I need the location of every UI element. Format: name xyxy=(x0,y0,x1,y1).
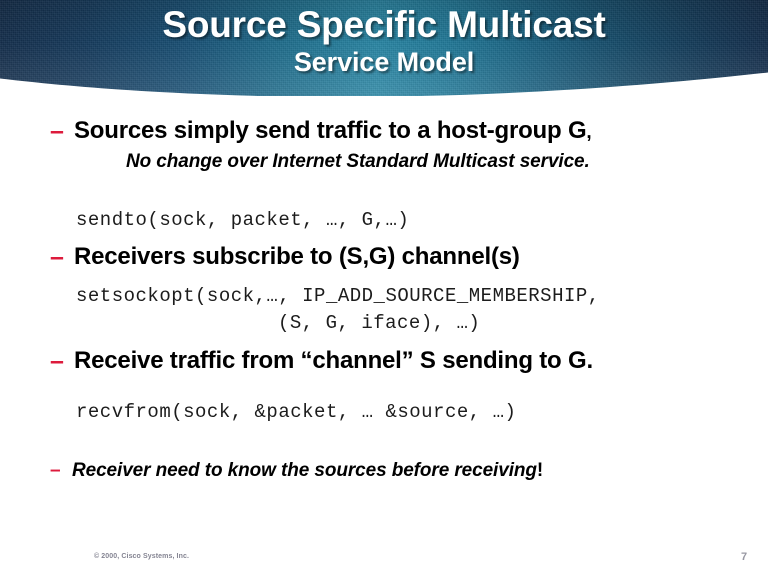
bullet-main-text: Receiver need to know the sources before… xyxy=(72,460,537,481)
bullet-item-receiver-need-to-know: – Receiver need to know the sources befo… xyxy=(50,459,543,483)
bullet-tail-text: , xyxy=(586,122,591,143)
bullet-subline-no-change: No change over Internet Standard Multica… xyxy=(126,150,590,173)
slide-canvas: Source Specific Multicast Service Model … xyxy=(0,0,768,576)
bullet-tail-text: ! xyxy=(537,460,543,481)
code-line-setsockopt-args: (S, G, iface), …) xyxy=(278,311,480,335)
bullet-label: Receivers subscribe to (S,G) channel(s) xyxy=(74,243,520,271)
footer-copyright: © 2000, Cisco Systems, Inc. xyxy=(94,552,189,562)
bullet-label: Sources simply send traffic to a host-gr… xyxy=(74,117,592,147)
code-line-setsockopt: setsockopt(sock,…, IP_ADD_SOURCE_MEMBERS… xyxy=(76,284,600,308)
code-line-recvfrom: recvfrom(sock, &packet, … &source, …) xyxy=(76,400,516,424)
slide-body: – Sources simply send traffic to a host-… xyxy=(0,104,768,524)
bullet-label: Receive traffic from “channel” S sending… xyxy=(74,347,593,375)
bullet-dash-icon: – xyxy=(50,243,74,271)
bullet-dash-icon: – xyxy=(50,347,74,375)
footer-page-number: 7 xyxy=(734,550,754,564)
bullet-item-receivers-subscribe: – Receivers subscribe to (S,G) channel(s… xyxy=(50,243,520,271)
bullet-main-text: Sources simply send traffic to a host-gr… xyxy=(74,117,586,144)
slide-title-block: Source Specific Multicast Service Model xyxy=(0,3,768,78)
bullet-item-sources-send-traffic: – Sources simply send traffic to a host-… xyxy=(50,117,592,147)
bullet-dash-icon: – xyxy=(50,117,74,145)
bullet-label: Receiver need to know the sources before… xyxy=(72,459,543,483)
bullet-item-receive-traffic-channel: – Receive traffic from “channel” S sendi… xyxy=(50,347,593,375)
code-line-sendto: sendto(sock, packet, …, G,…) xyxy=(76,208,409,232)
slide-header-banner: Source Specific Multicast Service Model xyxy=(0,0,768,96)
bullet-dash-icon: – xyxy=(50,459,72,483)
slide-subtitle: Service Model xyxy=(0,46,768,78)
slide-title: Source Specific Multicast xyxy=(0,3,768,46)
